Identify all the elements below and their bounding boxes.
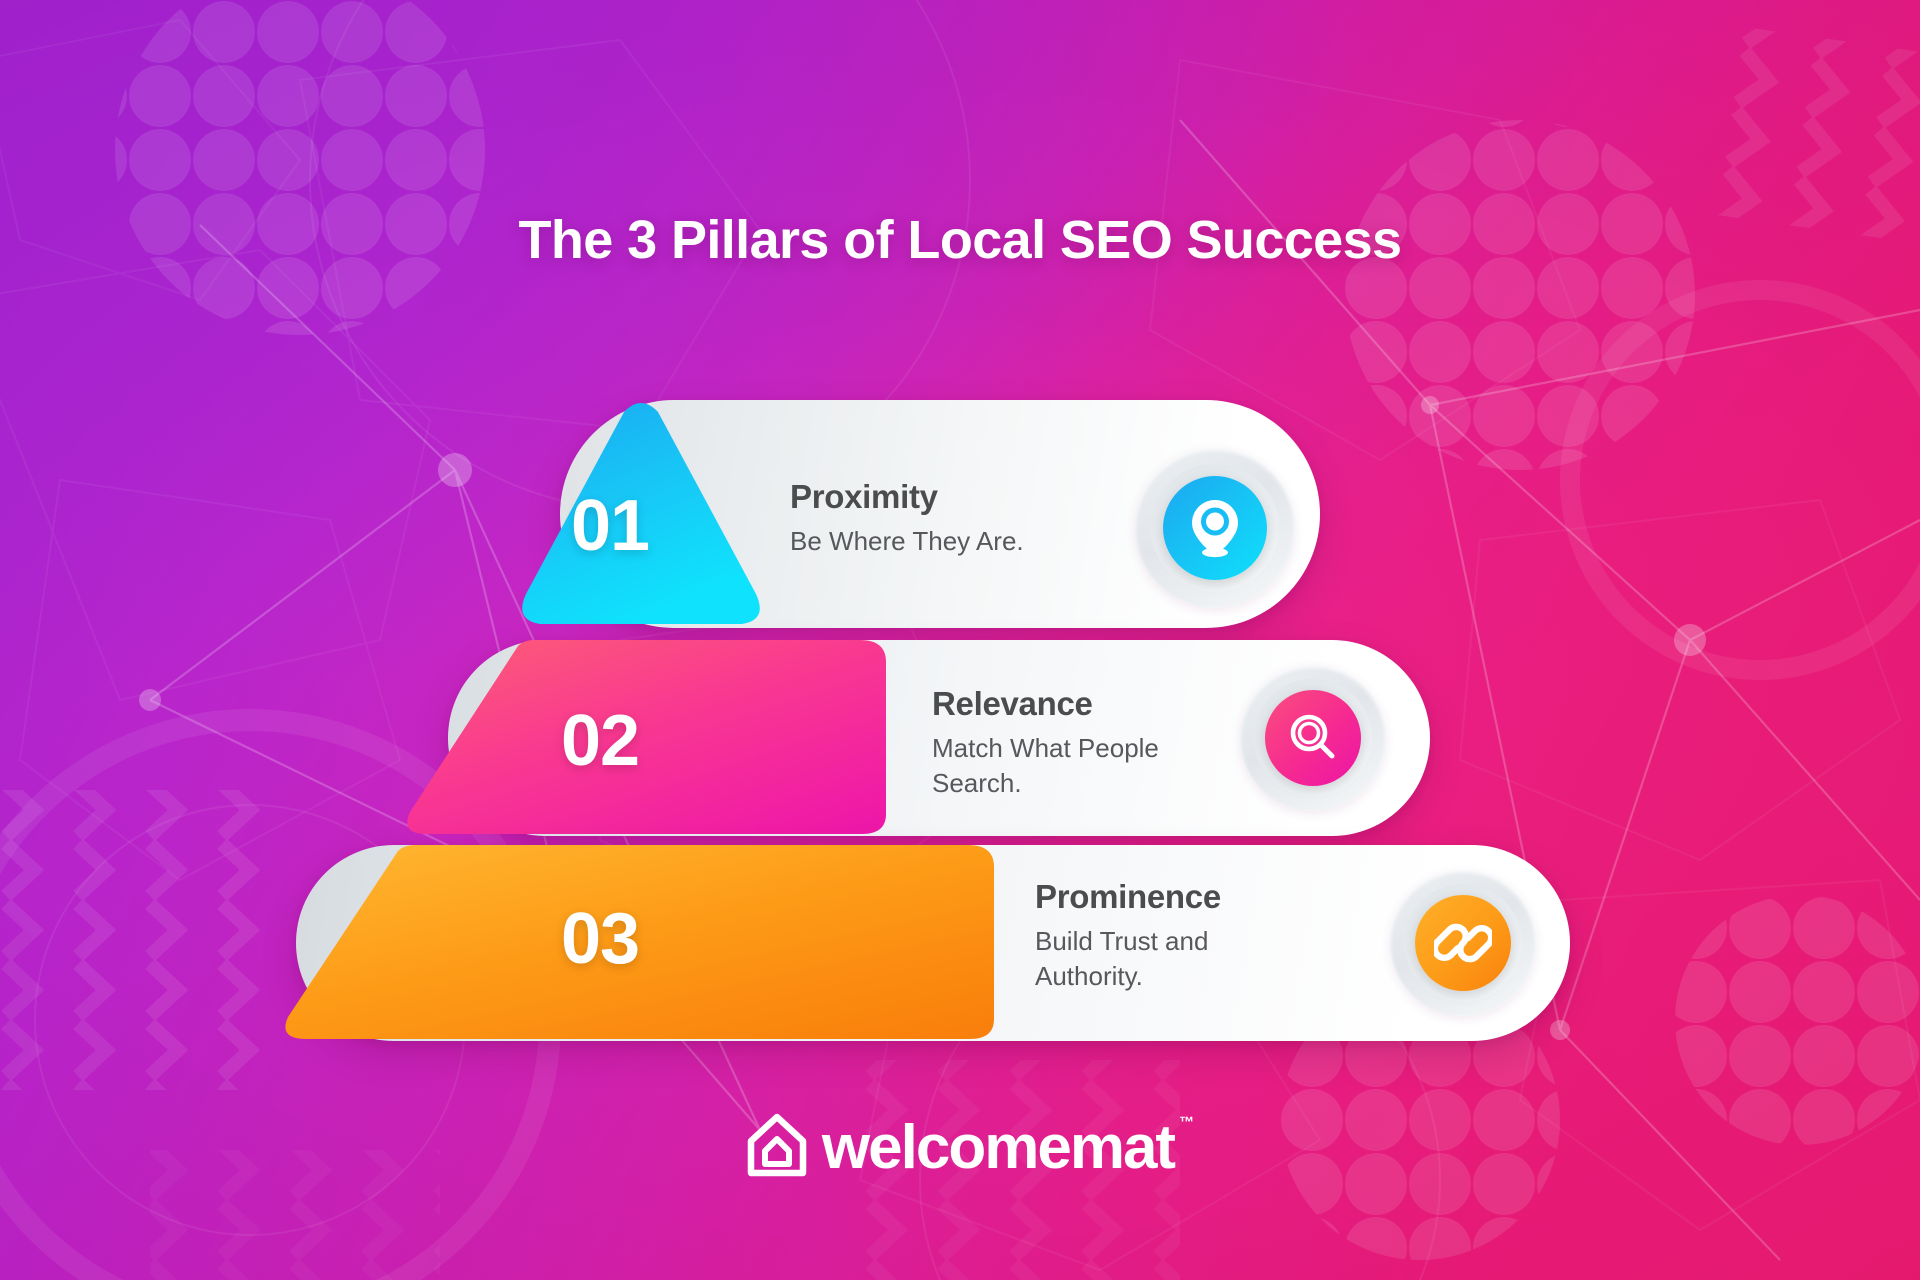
pillar-heading-3: Prominence — [1035, 878, 1305, 916]
pillar-icon-medallion-2[interactable] — [1240, 665, 1386, 811]
pillar-text-3: Prominence Build Trust and Authority. — [1035, 878, 1305, 994]
logo-wordmark: welcomemat ™ — [822, 1117, 1174, 1179]
medallion-disc — [1265, 690, 1361, 786]
medallion-ring-inner — [1404, 884, 1522, 1002]
pyramid-diagram: 01 Proximity Be Where They Are. — [0, 0, 1920, 1280]
pillar-subtitle-2: Match What People Search. — [932, 731, 1212, 801]
medallion-ring-outer — [1135, 448, 1295, 608]
pillar-subtitle-3: Build Trust and Authority. — [1035, 924, 1305, 994]
pillar-number-2: 02 — [500, 700, 700, 782]
medallion-disc — [1163, 476, 1267, 580]
logo-wordmark-text: welcomemat — [822, 1113, 1174, 1182]
house-outline-icon — [746, 1112, 808, 1183]
chain-link-icon — [1434, 914, 1492, 972]
medallion-ring-inner — [1254, 679, 1372, 797]
pillar-subtitle-1: Be Where They Are. — [790, 524, 1120, 559]
medallion-ring-inner — [1151, 464, 1279, 592]
pillar-number-3: 03 — [500, 898, 700, 980]
location-pin-icon — [1187, 497, 1243, 559]
pillar-text-2: Relevance Match What People Search. — [932, 685, 1212, 801]
logo-trademark: ™ — [1179, 1115, 1194, 1130]
brand-logo[interactable]: welcomemat ™ — [0, 1112, 1920, 1183]
medallion-disc — [1415, 895, 1511, 991]
medallion-ring-outer — [1390, 870, 1536, 1016]
pillar-text-1: Proximity Be Where They Are. — [790, 478, 1120, 559]
medallion-ring-outer — [1240, 665, 1386, 811]
magnifier-icon — [1285, 710, 1341, 766]
pillar-number-1: 01 — [520, 485, 700, 567]
pillar-heading-2: Relevance — [932, 685, 1212, 723]
pillar-icon-medallion-1[interactable] — [1135, 448, 1295, 608]
pillar-heading-1: Proximity — [790, 478, 1120, 516]
pillar-icon-medallion-3[interactable] — [1390, 870, 1536, 1016]
